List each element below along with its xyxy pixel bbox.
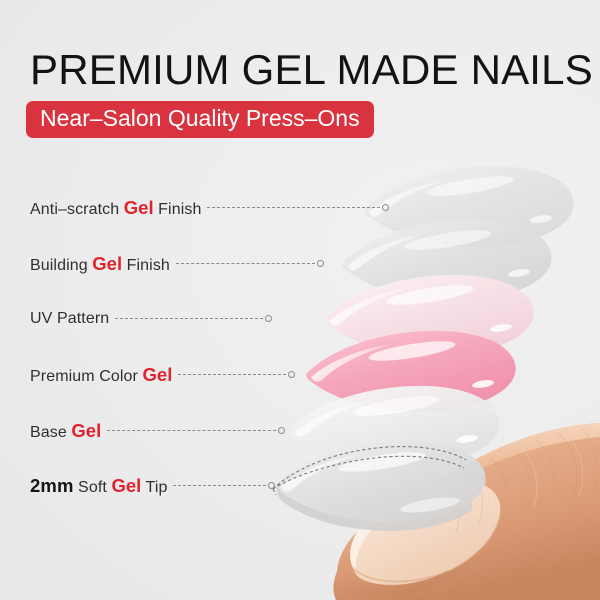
leader-endpoint-circle-icon: [382, 204, 389, 211]
callout-text-part: Gel: [71, 420, 101, 441]
product-infographic: PREMIUM GEL MADE NAILS Near–Salon Qualit…: [0, 0, 600, 600]
callout-text-part: Premium Color: [30, 368, 143, 385]
leader-endpoint-circle-icon: [265, 315, 272, 322]
callout-row-anti-scratch-gel-finish: Anti–scratch Gel Finish: [30, 196, 380, 220]
leader-line-uv-pattern: [115, 318, 263, 320]
layer-base-gel: [290, 386, 499, 467]
layer-building-gel-finish: [342, 220, 551, 301]
callout-text-part: Tip: [141, 479, 167, 496]
callout-text-part: Gel: [143, 364, 173, 385]
thickness-dashed-callout: [273, 447, 466, 495]
callout-text-part: UV Pattern: [30, 310, 109, 327]
leader-endpoint-circle-icon: [317, 260, 324, 267]
layer-anti-scratch-gel-finish: [364, 166, 573, 247]
callout-row-2mm-soft-gel-tip: 2mm Soft Gel Tip: [30, 474, 266, 498]
leader-line-anti-scratch-gel-finish: [207, 207, 380, 209]
callout-label-base-gel: Base Gel: [30, 420, 101, 442]
layer-uv-pattern: [324, 275, 533, 356]
subtitle-badge-label: Near–Salon Quality Press–Ons: [40, 107, 360, 130]
leader-endpoint-circle-icon: [268, 482, 275, 489]
page-title: PREMIUM GEL MADE NAILS: [30, 48, 593, 92]
leader-line-base-gel: [107, 430, 276, 432]
callout-text-part: Base: [30, 424, 71, 441]
layer-soft-gel-tip: [276, 441, 485, 531]
callout-text-part: Soft: [74, 479, 112, 496]
callout-text-part: 2mm: [30, 475, 74, 496]
callout-text-part: Finish: [122, 257, 170, 274]
callout-text-part: Gel: [124, 197, 154, 218]
callout-row-uv-pattern: UV Pattern: [30, 307, 263, 331]
leader-endpoint-circle-icon: [278, 427, 285, 434]
callout-row-building-gel-finish: Building Gel Finish: [30, 252, 315, 276]
subtitle-badge: Near–Salon Quality Press–Ons: [26, 101, 374, 138]
callout-label-anti-scratch-gel-finish: Anti–scratch Gel Finish: [30, 197, 201, 219]
layer-premium-color-gel: [306, 331, 515, 412]
leader-line-premium-color-gel: [178, 374, 286, 376]
callout-label-premium-color-gel: Premium Color Gel: [30, 364, 172, 386]
callout-text-part: Anti–scratch: [30, 201, 124, 218]
leader-line-2mm-soft-gel-tip: [173, 485, 266, 487]
callout-row-premium-color-gel: Premium Color Gel: [30, 363, 286, 387]
leader-line-building-gel-finish: [176, 263, 315, 265]
callout-label-building-gel-finish: Building Gel Finish: [30, 253, 170, 275]
callout-text-part: Gel: [111, 475, 141, 496]
callout-text-part: Building: [30, 257, 92, 274]
callout-text-part: Gel: [92, 253, 122, 274]
callout-label-2mm-soft-gel-tip: 2mm Soft Gel Tip: [30, 475, 167, 497]
callout-text-part: Finish: [154, 201, 202, 218]
callout-row-base-gel: Base Gel: [30, 419, 276, 443]
leader-endpoint-circle-icon: [288, 371, 295, 378]
callout-label-uv-pattern: UV Pattern: [30, 310, 109, 328]
